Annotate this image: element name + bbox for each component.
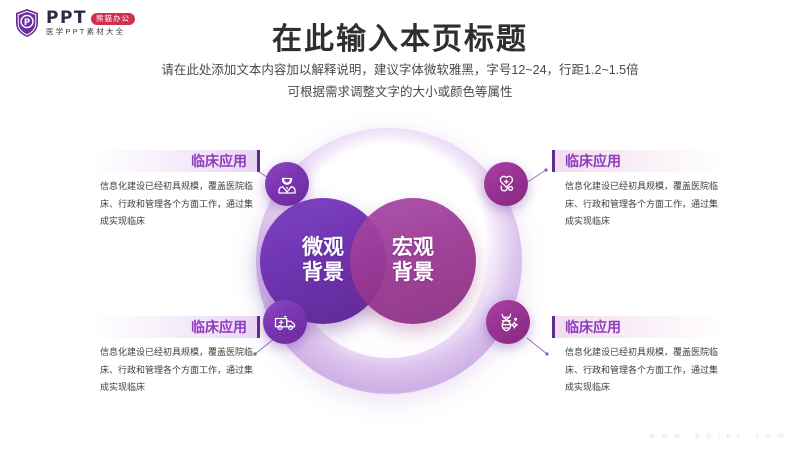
ambulance-icon xyxy=(273,310,298,335)
info-block-body: 信息化建设已经初具规模，覆盖医院临床、行政和管理各个方面工作，通过集成实现临床 xyxy=(88,338,260,397)
info-block-body: 信息化建设已经初具规模，覆盖医院临床、行政和管理各个方面工作，通过集成实现临床 xyxy=(552,172,724,231)
page-subtitle: 请在此处添加文本内容加以解释说明，建议字体微软雅黑，字号12~24，行距1.2~… xyxy=(0,60,800,104)
info-block-body: 信息化建设已经初具规模，覆盖医院临床、行政和管理各个方面工作，通过集成实现临床 xyxy=(552,338,724,397)
subtitle-line-1: 请在此处添加文本内容加以解释说明，建议字体微软雅黑，字号12~24，行距1.2~… xyxy=(0,60,800,82)
center-right-line1: 宏观 xyxy=(392,236,434,261)
center-left-line2: 背景 xyxy=(302,261,344,286)
info-block-top-left[interactable]: 临床应用 信息化建设已经初具规模，覆盖医院临床、行政和管理各个方面工作，通过集成… xyxy=(88,150,260,231)
info-block-top-right[interactable]: 临床应用 信息化建设已经初具规模，覆盖医院临床、行政和管理各个方面工作，通过集成… xyxy=(552,150,724,231)
subtitle-line-2: 可根据需求调整文字的大小或颜色等属性 xyxy=(0,82,800,104)
doctor-icon xyxy=(275,172,299,196)
stethoscope-heart-icon xyxy=(494,172,518,196)
doctor-icon-badge[interactable] xyxy=(265,162,309,206)
info-block-label: 临床应用 xyxy=(88,150,260,172)
info-block-label: 临床应用 xyxy=(552,150,724,172)
info-block-body: 信息化建设已经初具规模，覆盖医院临床、行政和管理各个方面工作，通过集成实现临床 xyxy=(88,172,260,231)
stethoscope-heart-icon-badge[interactable] xyxy=(484,162,528,206)
ambulance-icon-badge[interactable] xyxy=(263,300,307,344)
center-left-line1: 微观 xyxy=(302,236,344,261)
dna-icon xyxy=(496,310,521,335)
info-block-bottom-left[interactable]: 临床应用 信息化建设已经初具规模，覆盖医院临床、行政和管理各个方面工作，通过集成… xyxy=(88,316,260,397)
dna-icon-badge[interactable] xyxy=(486,300,530,344)
page-title: 在此输入本页标题 xyxy=(0,14,800,58)
info-block-label: 临床应用 xyxy=(552,316,724,338)
watermark: w w w . p p t e r . c o m xyxy=(649,431,786,440)
center-right-line2: 背景 xyxy=(392,261,434,286)
venn-diagram: 微观 背景 宏观 背景 xyxy=(228,126,574,396)
center-circle-right[interactable]: 宏观 背景 xyxy=(350,198,476,324)
info-block-bottom-right[interactable]: 临床应用 信息化建设已经初具规模，覆盖医院临床、行政和管理各个方面工作，通过集成… xyxy=(552,316,724,397)
info-block-label: 临床应用 xyxy=(88,316,260,338)
